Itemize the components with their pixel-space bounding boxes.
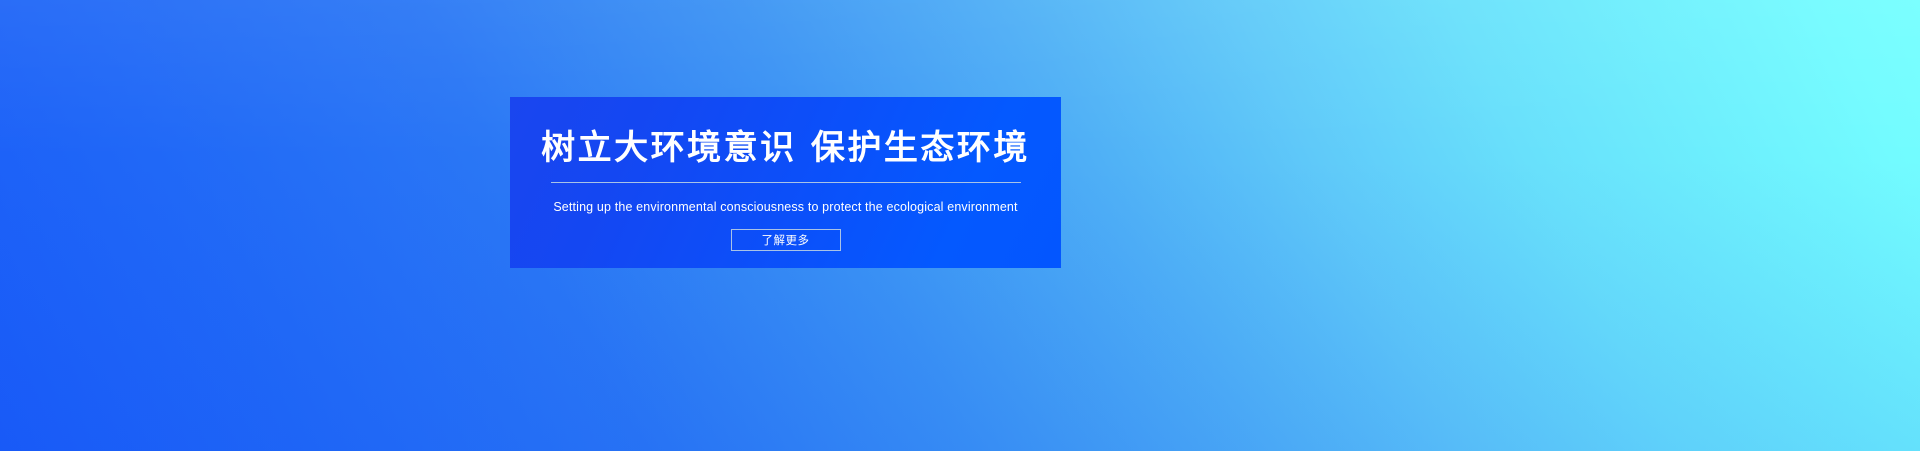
hero-content-panel: 树立大环境意识 保护生态环境 Setting up the environmen… — [510, 97, 1061, 268]
page-subtitle: Setting up the environmental consciousne… — [553, 199, 1017, 215]
hero-banner: 树立大环境意识 保护生态环境 Setting up the environmen… — [0, 0, 1920, 451]
learn-more-button[interactable]: 了解更多 — [731, 229, 841, 251]
page-title: 树立大环境意识 保护生态环境 — [541, 128, 1030, 168]
title-divider — [551, 182, 1021, 183]
